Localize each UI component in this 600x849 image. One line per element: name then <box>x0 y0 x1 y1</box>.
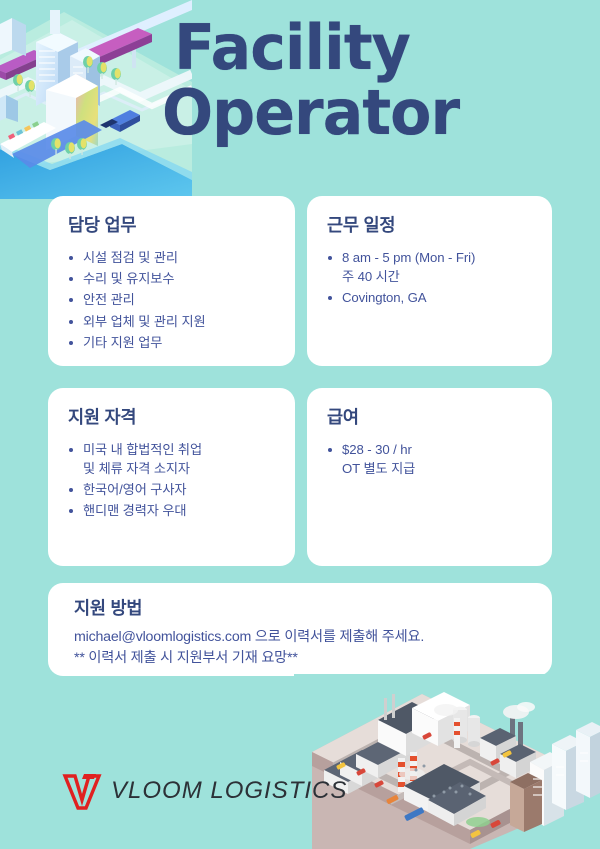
list-item-main: 미국 내 합법적인 취업 <box>83 442 202 457</box>
apply-email-line[interactable]: michael@vloomlogistics.com 으로 이력서를 제출해 주… <box>74 627 534 648</box>
list-item-sub: 및 체류 자격 소지자 <box>83 460 277 479</box>
list-item: 시설 점검 및 관리 <box>68 249 277 268</box>
list-item-main: 핸디맨 경력자 우대 <box>83 503 186 518</box>
card-schedule: 근무 일정 8 am - 5 pm (Mon - Fri) 주 40 시간 Co… <box>307 196 552 366</box>
list-item: 한국어/영어 구사자 <box>68 481 277 500</box>
list-item: 8 am - 5 pm (Mon - Fri) 주 40 시간 <box>327 249 534 286</box>
list-item: 안전 관리 <box>68 291 277 310</box>
card-qualifications: 지원 자격 미국 내 합법적인 취업 및 체류 자격 소지자 한국어/영어 구사… <box>48 388 295 566</box>
list-item: 외부 업체 및 관리 지원 <box>68 313 277 332</box>
list-item: 미국 내 합법적인 취업 및 체류 자격 소지자 <box>68 441 277 478</box>
apply-note-line: ** 이력서 제출 시 지원부서 기재 요망** <box>74 648 534 669</box>
poster-canvas: Facility Operator 담당 업무 시설 점검 및 관리 수리 및 … <box>0 0 600 849</box>
list-item-main: 한국어/영어 구사자 <box>83 482 186 497</box>
list-item-main: 8 am - 5 pm (Mon - Fri) <box>342 250 475 265</box>
title-line-2: Operator <box>162 83 569 144</box>
poster-title: Facility Operator <box>162 18 582 144</box>
list-item-main: Covington, GA <box>342 290 426 305</box>
logo-text: VLOOM LOGISTICS <box>111 777 347 805</box>
card-apply-title: 지원 방법 <box>74 595 534 620</box>
title-line-1: Facility <box>174 18 570 79</box>
list-item-sub: 주 40 시간 <box>342 268 534 287</box>
list-item: 수리 및 유지보수 <box>68 270 277 289</box>
card-salary-title: 급여 <box>327 404 534 429</box>
vloom-v-mark-icon <box>62 772 102 810</box>
card-duties-title: 담당 업무 <box>68 212 277 237</box>
list-item-main: $28 - 30 / hr <box>342 442 412 457</box>
salary-list: $28 - 30 / hr OT 별도 지급 <box>327 441 534 478</box>
list-item: Covington, GA <box>327 289 534 308</box>
card-qualifications-title: 지원 자격 <box>68 404 277 429</box>
company-logo: VLOOM LOGISTICS <box>62 772 347 810</box>
card-schedule-title: 근무 일정 <box>327 212 534 237</box>
card-salary: 급여 $28 - 30 / hr OT 별도 지급 <box>307 388 552 566</box>
qualifications-list: 미국 내 합법적인 취업 및 체류 자격 소지자 한국어/영어 구사자 핸디맨 … <box>68 441 277 521</box>
list-item: 핸디맨 경력자 우대 <box>68 502 277 521</box>
duties-list: 시설 점검 및 관리 수리 및 유지보수 안전 관리 외부 업체 및 관리 지원… <box>68 249 277 353</box>
list-item-sub: OT 별도 지급 <box>342 460 534 479</box>
list-item: 기타 지원 업무 <box>68 334 277 353</box>
isometric-factory-illustration <box>294 674 600 849</box>
card-duties: 담당 업무 시설 점검 및 관리 수리 및 유지보수 안전 관리 외부 업체 및… <box>48 196 295 366</box>
card-apply: 지원 방법 michael@vloomlogistics.com 으로 이력서를… <box>48 583 552 676</box>
schedule-list: 8 am - 5 pm (Mon - Fri) 주 40 시간 Covingto… <box>327 249 534 308</box>
list-item: $28 - 30 / hr OT 별도 지급 <box>327 441 534 478</box>
